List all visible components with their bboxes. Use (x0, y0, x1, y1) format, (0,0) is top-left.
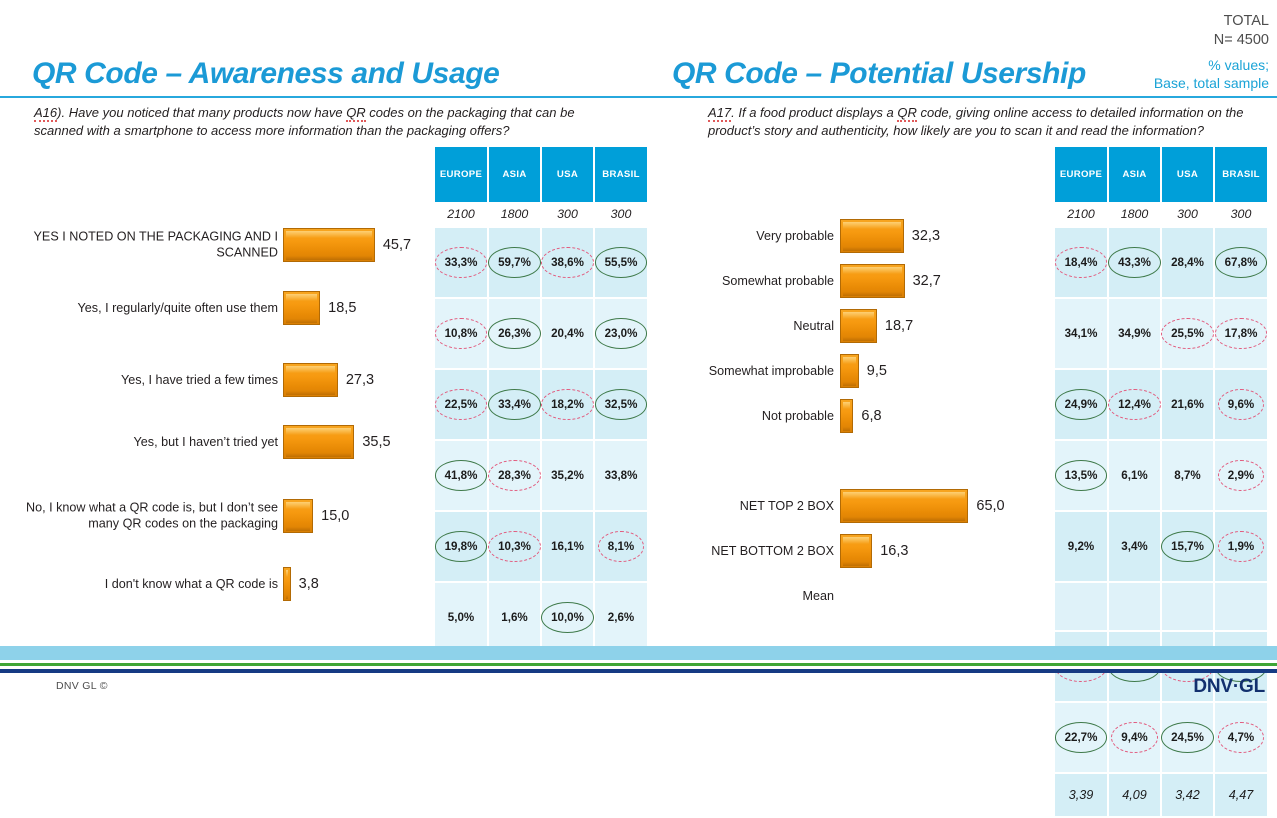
bar-value-label: 6,8 (861, 408, 881, 424)
table-cell: 19,8% (435, 511, 488, 582)
value-plain: 34,9% (1114, 324, 1155, 343)
table-cell: 43,3% (1108, 227, 1161, 298)
bar-value-label: 18,5 (328, 300, 356, 316)
question-text-right: A17. If a food product displays a QR cod… (708, 104, 1268, 140)
table-base-cell: 2100 (435, 202, 488, 227)
table-col-header: EUROPE (1055, 147, 1108, 202)
table-col-header: USA (541, 147, 594, 202)
bar-value-label: 45,7 (383, 237, 411, 253)
value-plain: 16,1% (547, 537, 588, 556)
table-cell: 55,5% (594, 227, 647, 298)
table-cell: 9,6% (1214, 369, 1267, 440)
table-row: 33,3%59,7%38,6%55,5% (435, 227, 647, 298)
value-high-marker: 22,7% (1061, 728, 1102, 747)
value-high-marker: 55,5% (601, 253, 642, 272)
bar-value-label: 32,7 (913, 273, 941, 289)
table-row (1055, 582, 1267, 631)
table-cell: 59,7% (488, 227, 541, 298)
bar-segment (283, 291, 320, 325)
table-cell: 6,1% (1108, 440, 1161, 511)
table-base-cell: 1800 (488, 202, 541, 227)
value-plain: 21,6% (1167, 395, 1208, 414)
value-high-marker: 13,5% (1061, 466, 1102, 485)
value-low-marker: 18,2% (547, 395, 588, 414)
value-low-marker: 8,1% (604, 537, 638, 556)
bar-category-label: Neutral (660, 318, 834, 334)
value-high-marker: 10,0% (547, 608, 588, 627)
value-high-marker: 41,8% (441, 466, 482, 485)
bar-category-label: Yes, I have tried a few times (0, 372, 278, 388)
table-col-header: ASIA (488, 147, 541, 202)
bar-category-label: No, I know what a QR code is, but I don’… (0, 500, 278, 533)
bar-category-label: YES I NOTED ON THE PACKAGING AND I SCANN… (0, 229, 278, 262)
question-text-left: A16). Have you noticed that many product… (34, 104, 579, 140)
table-cell: 33,3% (435, 227, 488, 298)
table-cell: 17,8% (1214, 298, 1267, 369)
value-high-marker: 32,5% (601, 395, 642, 414)
table-row: 10,8%26,3%20,4%23,0% (435, 298, 647, 369)
base-note-line1: % values; (1154, 56, 1269, 74)
table-header-row-right: EUROPEASIAUSABRASIL (1055, 147, 1267, 202)
table-col-header: BRASIL (594, 147, 647, 202)
table-cell: 28,4% (1161, 227, 1214, 298)
bar-segment (840, 489, 968, 523)
table-cell: 26,3% (488, 298, 541, 369)
bar-value-label: 15,0 (321, 508, 349, 524)
bar-segment (283, 425, 354, 459)
table-row: 13,5%6,1%8,7%2,9% (1055, 440, 1267, 511)
bar-segment (840, 399, 853, 433)
value-high-marker: 43,3% (1114, 253, 1155, 272)
table-cell: 18,2% (541, 369, 594, 440)
sample-size-label: N= 4500 (1154, 31, 1269, 50)
value-plain: 20,4% (547, 324, 588, 343)
table-cell: 8,1% (594, 511, 647, 582)
bar-value-label: 35,5 (362, 434, 390, 450)
value-high-marker: 24,5% (1167, 728, 1208, 747)
value-plain: 8,7% (1170, 466, 1204, 485)
table-cell: 67,8% (1214, 227, 1267, 298)
table-row: 18,4%43,3%28,4%67,8% (1055, 227, 1267, 298)
value-low-marker: 10,3% (494, 537, 535, 556)
table-cell: 33,4% (488, 369, 541, 440)
table-row: 22,5%33,4%18,2%32,5% (435, 369, 647, 440)
table-cell: 22,7% (1055, 702, 1108, 773)
bar-category-label: Somewhat improbable (660, 363, 834, 379)
table-base-cell: 2100 (1055, 202, 1108, 227)
table-cell: 22,5% (435, 369, 488, 440)
value-plain: 1,6% (497, 608, 531, 627)
table-row: 24,9%12,4%21,6%9,6% (1055, 369, 1267, 440)
value-low-marker: 22,5% (441, 395, 482, 414)
table-cell: 38,6% (541, 227, 594, 298)
table-cell: 3,42 (1161, 773, 1214, 817)
table-cell: 10,0% (541, 582, 594, 653)
bar-segment (840, 309, 877, 343)
table-row: 22,7%9,4%24,5%4,7% (1055, 702, 1267, 773)
value-plain: 3,42 (1171, 785, 1204, 805)
table-cell: 4,47 (1214, 773, 1267, 817)
value-low-marker: 33,3% (441, 253, 482, 272)
value-plain: 5,0% (444, 608, 478, 627)
value-plain: 6,1% (1117, 466, 1151, 485)
table-cell: 33,8% (594, 440, 647, 511)
value-low-marker: 4,7% (1224, 728, 1258, 747)
bar-segment (283, 363, 338, 397)
dnv-gl-logo: DNV·GL (1193, 676, 1265, 698)
table-cell: 4,7% (1214, 702, 1267, 773)
bar-category-label: Somewhat probable (660, 273, 834, 289)
value-plain: 28,4% (1167, 253, 1208, 272)
value-high-marker: 15,7% (1167, 537, 1208, 556)
table-cell: 10,8% (435, 298, 488, 369)
table-cell: 13,5% (1055, 440, 1108, 511)
value-high-marker: 59,7% (494, 253, 535, 272)
value-low-marker: 10,8% (441, 324, 482, 343)
table-base-cell: 300 (1214, 202, 1267, 227)
bar-category-label: Mean (660, 588, 834, 604)
table-row: 19,8%10,3%16,1%8,1% (435, 511, 647, 582)
bar-value-label: 27,3 (346, 372, 374, 388)
value-low-marker: 1,9% (1224, 537, 1258, 556)
table-cell: 24,5% (1161, 702, 1214, 773)
table-row: 5,0%1,6%10,0%2,6% (435, 582, 647, 653)
table-base-cell: 300 (594, 202, 647, 227)
table-cell: 34,9% (1108, 298, 1161, 369)
base-note: % values; Base, total sample (1154, 56, 1269, 92)
value-plain: 2,6% (604, 608, 638, 627)
bar-segment (840, 264, 905, 298)
value-high-marker: 26,3% (494, 324, 535, 343)
slide: TOTAL N= 4500 % values; Base, total samp… (0, 0, 1277, 716)
value-high-marker: 67,8% (1221, 253, 1262, 272)
value-plain: 35,2% (547, 466, 588, 485)
footer-copyright: DNV GL © (56, 680, 108, 692)
bar-category-label: Not probable (660, 408, 834, 424)
bar-value-label: 65,0 (976, 498, 1004, 514)
bar-value-label: 16,3 (880, 543, 908, 559)
footer-band-light (0, 646, 1277, 660)
total-label: TOTAL (1154, 12, 1269, 31)
bar-segment (840, 534, 872, 568)
table-base-cell: 1800 (1108, 202, 1161, 227)
table-col-header: ASIA (1108, 147, 1161, 202)
bar-category-label: Yes, but I haven’t tried yet (0, 434, 278, 450)
table-cell: 28,3% (488, 440, 541, 511)
value-low-marker: 28,3% (494, 466, 535, 485)
table-col-header: BRASIL (1214, 147, 1267, 202)
value-low-marker: 38,6% (547, 253, 588, 272)
table-cell: 10,3% (488, 511, 541, 582)
table-cell: 5,0% (435, 582, 488, 653)
table-header-row-left: EUROPEASIAUSABRASIL (435, 147, 647, 202)
table-cell (1055, 582, 1108, 631)
table-row: 41,8%28,3%35,2%33,8% (435, 440, 647, 511)
bar-value-label: 18,7 (885, 318, 913, 334)
table-cell: 4,09 (1108, 773, 1161, 817)
table-cell: 12,4% (1108, 369, 1161, 440)
value-low-marker: 2,9% (1224, 466, 1258, 485)
footer-band-navy (0, 669, 1277, 673)
table-base-row: 21001800300300 (435, 202, 647, 227)
table-cell: 9,4% (1108, 702, 1161, 773)
slide-meta: TOTAL N= 4500 % values; Base, total samp… (1154, 12, 1269, 93)
table-base-cell: 300 (541, 202, 594, 227)
table-cell: 1,9% (1214, 511, 1267, 582)
table-row: 9,2%3,4%15,7%1,9% (1055, 511, 1267, 582)
bar-value-label: 3,8 (299, 576, 319, 592)
base-note-line2: Base, total sample (1154, 74, 1269, 92)
table-col-header: EUROPE (435, 147, 488, 202)
value-high-marker: 23,0% (601, 324, 642, 343)
breakdown-table-awareness: EUROPEASIAUSABRASIL 2100180030030033,3%5… (435, 147, 647, 654)
table-cell: 20,4% (541, 298, 594, 369)
table-cell: 24,9% (1055, 369, 1108, 440)
table-cell: 3,39 (1055, 773, 1108, 817)
value-high-marker: 19,8% (441, 537, 482, 556)
value-plain: 9,2% (1064, 537, 1098, 556)
table-cell: 3,4% (1108, 511, 1161, 582)
bar-segment (283, 228, 375, 262)
bar-segment (840, 219, 904, 253)
bar-segment (283, 499, 313, 533)
table-cell (1214, 582, 1267, 631)
value-plain: 3,39 (1065, 785, 1098, 805)
value-low-marker: 9,4% (1117, 728, 1151, 747)
table-cell: 18,4% (1055, 227, 1108, 298)
bar-segment (283, 567, 291, 601)
table-cell: 8,7% (1161, 440, 1214, 511)
table-col-header: USA (1161, 147, 1214, 202)
bar-segment (840, 354, 859, 388)
value-low-marker: 12,4% (1114, 395, 1155, 414)
bar-category-label: NET TOP 2 BOX (660, 498, 834, 514)
table-base-row: 21001800300300 (1055, 202, 1267, 227)
bar-category-label: Very probable (660, 228, 834, 244)
table-cell: 21,6% (1161, 369, 1214, 440)
value-plain: 3,4% (1117, 537, 1151, 556)
table-cell: 35,2% (541, 440, 594, 511)
table-cell: 2,9% (1214, 440, 1267, 511)
bar-category-label: Yes, I regularly/quite often use them (0, 300, 278, 316)
bar-category-label: NET BOTTOM 2 BOX (660, 543, 834, 559)
table-cell: 41,8% (435, 440, 488, 511)
table-cell: 1,6% (488, 582, 541, 653)
table-row: 34,1%34,9%25,5%17,8% (1055, 298, 1267, 369)
table-cell (1108, 582, 1161, 631)
table-cell: 34,1% (1055, 298, 1108, 369)
value-plain: 33,8% (601, 466, 642, 485)
value-low-marker: 17,8% (1221, 324, 1262, 343)
value-plain: 4,09 (1118, 785, 1151, 805)
page-title-right: QR Code – Potential Usership (672, 57, 1086, 91)
value-high-marker: 33,4% (494, 395, 535, 414)
table-cell (1161, 582, 1214, 631)
table-cell: 9,2% (1055, 511, 1108, 582)
value-plain: 4,47 (1225, 785, 1258, 805)
table-cell: 15,7% (1161, 511, 1214, 582)
table-row: 3,394,093,424,47 (1055, 773, 1267, 817)
table-cell: 25,5% (1161, 298, 1214, 369)
value-high-marker: 24,9% (1061, 395, 1102, 414)
title-rule-right (660, 96, 1277, 98)
value-low-marker: 18,4% (1061, 253, 1102, 272)
bar-value-label: 32,3 (912, 228, 940, 244)
bar-value-label: 9,5 (867, 363, 887, 379)
table-base-cell: 300 (1161, 202, 1214, 227)
value-low-marker: 25,5% (1167, 324, 1208, 343)
title-rule-left (0, 96, 660, 98)
table-cell: 2,6% (594, 582, 647, 653)
page-title-left: QR Code – Awareness and Usage (32, 57, 499, 91)
bar-category-label: I don't know what a QR code is (0, 576, 278, 592)
table-cell: 32,5% (594, 369, 647, 440)
value-low-marker: 9,6% (1224, 395, 1258, 414)
breakdown-table-usership: EUROPEASIAUSABRASIL 2100180030030018,4%4… (1055, 147, 1267, 818)
value-plain: 34,1% (1061, 324, 1102, 343)
table-cell: 23,0% (594, 298, 647, 369)
table-cell: 16,1% (541, 511, 594, 582)
